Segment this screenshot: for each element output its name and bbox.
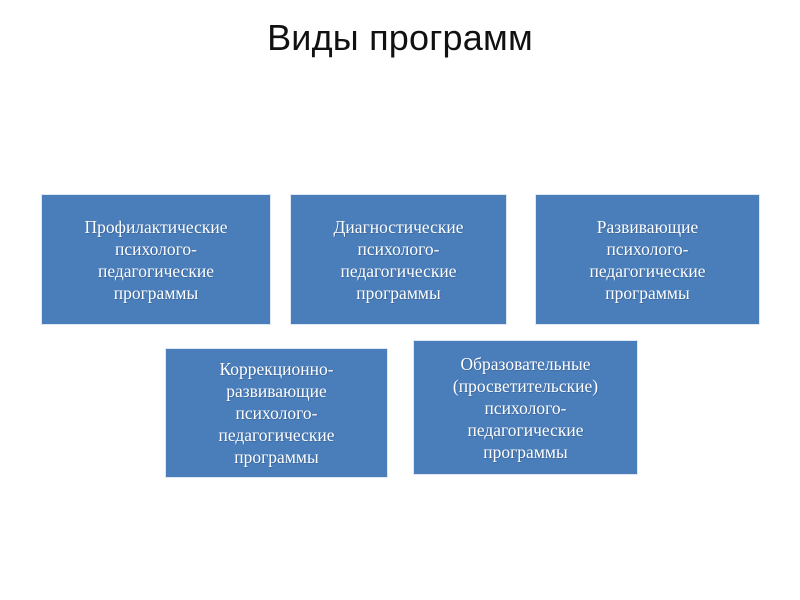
program-card-label: Развивающие психолого- педагогические пр… — [542, 216, 753, 304]
program-card-diagnostic[interactable]: Диагностические психолого- педагогически… — [290, 194, 507, 325]
program-card-correctional-developing[interactable]: Коррекционно- развивающие психолого- пед… — [165, 348, 388, 478]
program-card-label: Диагностические психолого- педагогически… — [297, 216, 500, 304]
program-card-label: Образовательные (просветительские) психо… — [420, 353, 631, 463]
slide-canvas: Виды программ Профилактические психолого… — [0, 0, 800, 600]
program-card-preventive[interactable]: Профилактические психолого- педагогическ… — [41, 194, 271, 325]
program-card-label: Коррекционно- развивающие психолого- пед… — [172, 358, 381, 468]
program-card-developing[interactable]: Развивающие психолого- педагогические пр… — [535, 194, 760, 325]
program-card-label: Профилактические психолого- педагогическ… — [48, 216, 264, 304]
page-title: Виды программ — [0, 18, 800, 58]
program-card-educational[interactable]: Образовательные (просветительские) психо… — [413, 340, 638, 475]
